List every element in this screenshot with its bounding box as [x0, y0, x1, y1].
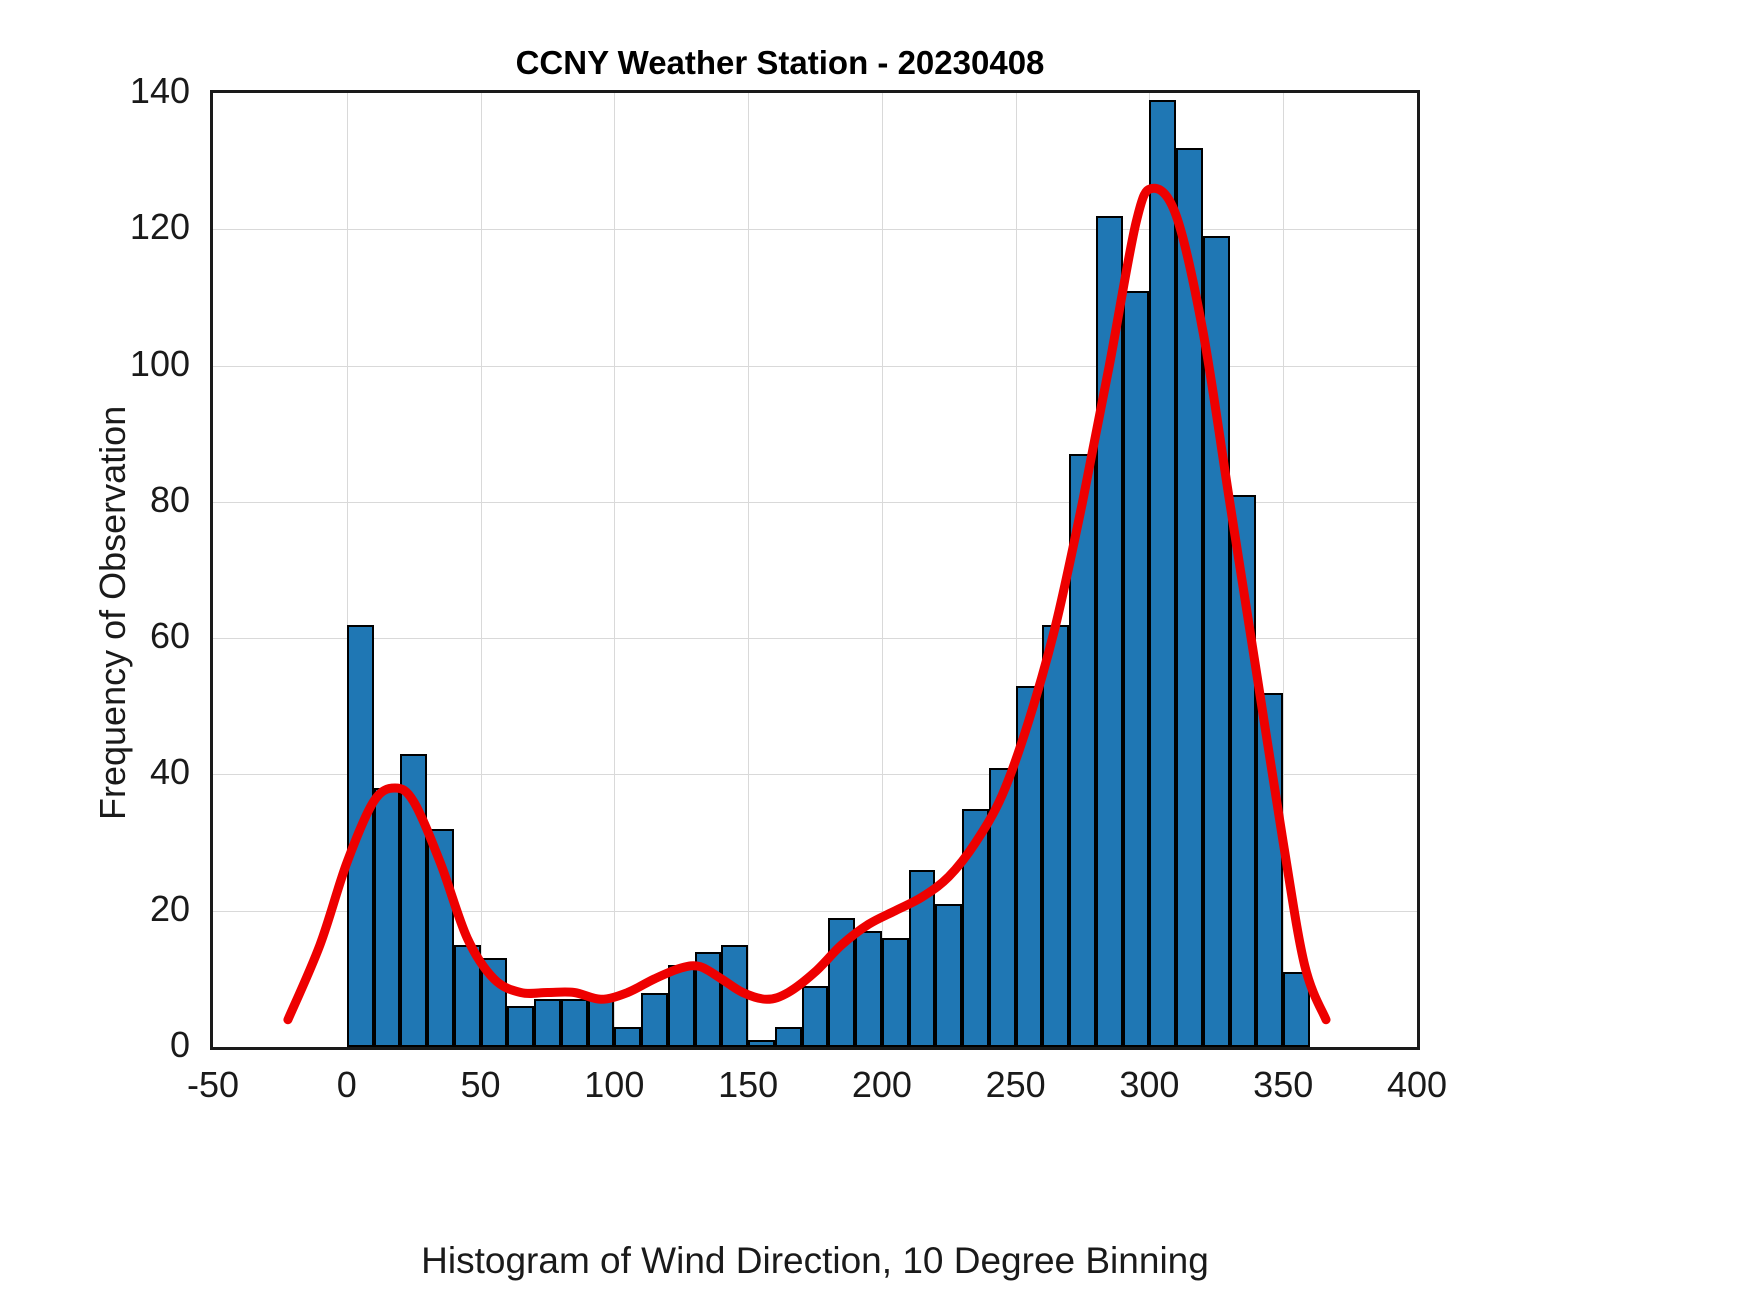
- plot-area: [210, 90, 1420, 1050]
- histogram-bar: [614, 1027, 641, 1047]
- histogram-bar: [1016, 686, 1043, 1047]
- histogram-bar: [668, 965, 695, 1047]
- histogram-bar: [855, 931, 882, 1047]
- y-tick-label: 20: [20, 888, 190, 930]
- histogram-bar: [828, 918, 855, 1047]
- x-axis-label: Histogram of Wind Direction, 10 Degree B…: [210, 1240, 1420, 1282]
- gridline-horizontal: [213, 229, 1417, 230]
- histogram-bar: [1230, 495, 1257, 1047]
- histogram-bar: [1256, 693, 1283, 1047]
- histogram-bar: [935, 904, 962, 1047]
- histogram-bar: [1042, 625, 1069, 1047]
- histogram-bar: [641, 993, 668, 1048]
- histogram-bar: [1149, 100, 1176, 1047]
- x-tick-label: 400: [1337, 1064, 1497, 1106]
- y-tick-label: 60: [20, 615, 190, 657]
- histogram-bar: [721, 945, 748, 1047]
- histogram-bar: [1176, 148, 1203, 1047]
- histogram-bar: [507, 1006, 534, 1047]
- histogram-bar: [588, 999, 615, 1047]
- histogram-bar: [427, 829, 454, 1047]
- histogram-bar: [347, 625, 374, 1047]
- histogram-bar: [989, 768, 1016, 1047]
- histogram-bar: [909, 870, 936, 1047]
- histogram-bar: [882, 938, 909, 1047]
- histogram-bar: [481, 958, 508, 1047]
- chart-title: CCNY Weather Station - 20230408: [0, 44, 1560, 82]
- histogram-bar: [534, 999, 561, 1047]
- y-tick-label: 100: [20, 343, 190, 385]
- histogram-bar: [1203, 236, 1230, 1047]
- histogram-bar: [748, 1040, 775, 1047]
- histogram-bar: [962, 809, 989, 1048]
- y-tick-label: 80: [20, 479, 190, 521]
- histogram-bar: [1096, 216, 1123, 1047]
- histogram-bar: [1123, 291, 1150, 1047]
- gridline-vertical: [481, 93, 482, 1047]
- histogram-bar: [695, 952, 722, 1047]
- histogram-bar: [775, 1027, 802, 1047]
- histogram-bar: [1283, 972, 1310, 1047]
- y-tick-label: 140: [20, 70, 190, 112]
- gridline-vertical: [882, 93, 883, 1047]
- histogram-bar: [454, 945, 481, 1047]
- histogram-bar: [561, 999, 588, 1047]
- histogram-bar: [374, 788, 401, 1047]
- histogram-bar: [400, 754, 427, 1047]
- gridline-horizontal: [213, 366, 1417, 367]
- gridline-vertical: [614, 93, 615, 1047]
- histogram-bar: [1069, 454, 1096, 1047]
- y-tick-label: 0: [20, 1024, 190, 1066]
- histogram-bar: [802, 986, 829, 1047]
- gridline-vertical: [1283, 93, 1284, 1047]
- y-tick-label: 40: [20, 751, 190, 793]
- figure-canvas: CCNY Weather Station - 20230408 Frequenc…: [0, 0, 1750, 1313]
- y-tick-label: 120: [20, 206, 190, 248]
- gridline-vertical: [748, 93, 749, 1047]
